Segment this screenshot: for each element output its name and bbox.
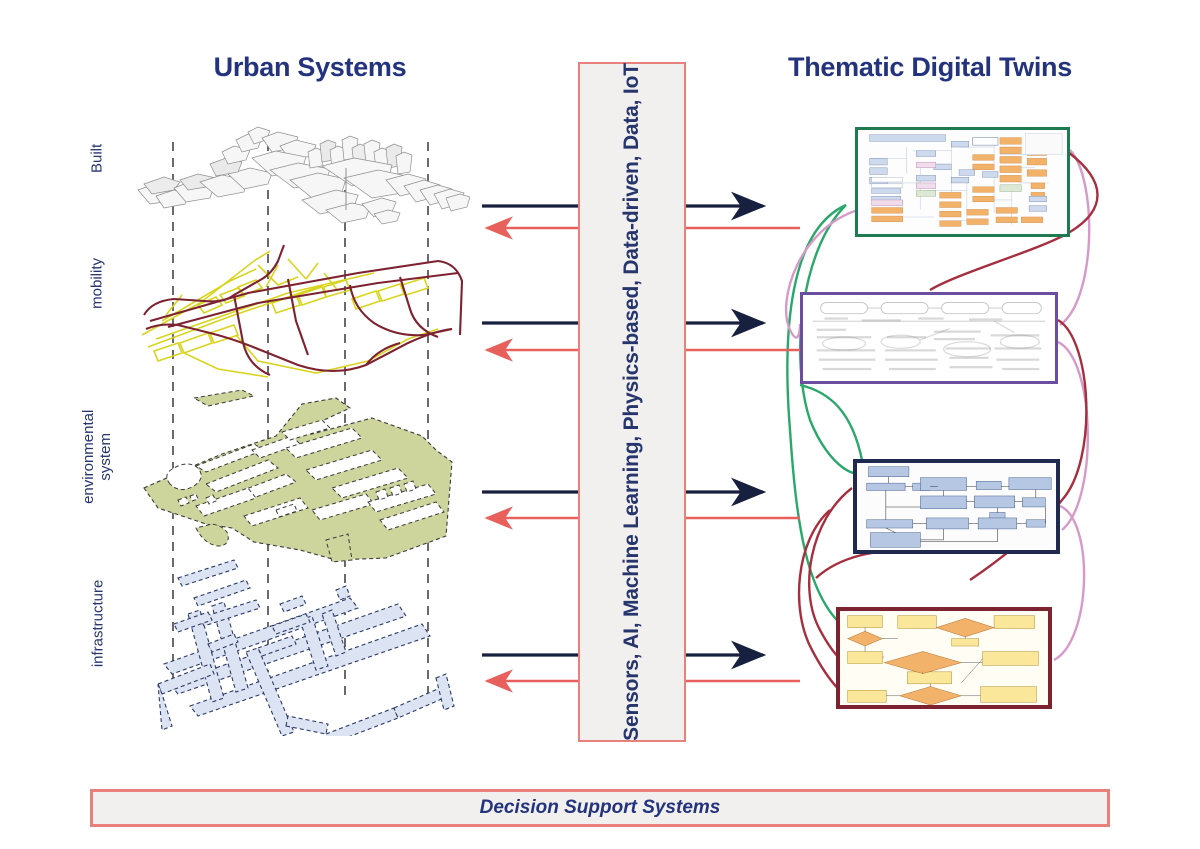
enabling-technologies-banner-text: Sensors, AI, Machine Learning, Physics-b… [620, 63, 644, 741]
enabling-technologies-banner: Sensors, AI, Machine Learning, Physics-b… [578, 62, 686, 742]
thumbnail-yellow-decision-flowchart[interactable] [836, 607, 1052, 709]
thumbnail-blue-process-flowchart[interactable] [853, 459, 1060, 554]
figure-canvas: Urban Systems Thematic Digital Twins Bui… [0, 0, 1200, 849]
thumbnail-faded-process-diagram[interactable] [800, 292, 1058, 384]
thumbnail-electrical-engineering-flow-chart[interactable] [855, 127, 1070, 237]
